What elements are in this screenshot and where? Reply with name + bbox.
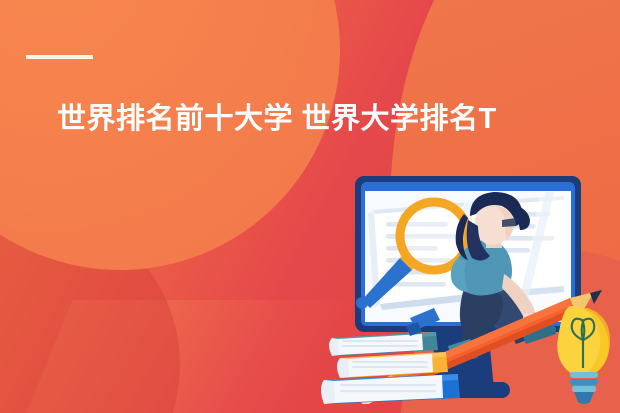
student-research-illustration (318, 158, 620, 413)
page-title: 世界排名前十大学 世界大学排名T (57, 101, 620, 137)
accent-rule (26, 55, 93, 59)
article-cover-banner: 世界排名前十大学 世界大学排名T (0, 0, 620, 413)
